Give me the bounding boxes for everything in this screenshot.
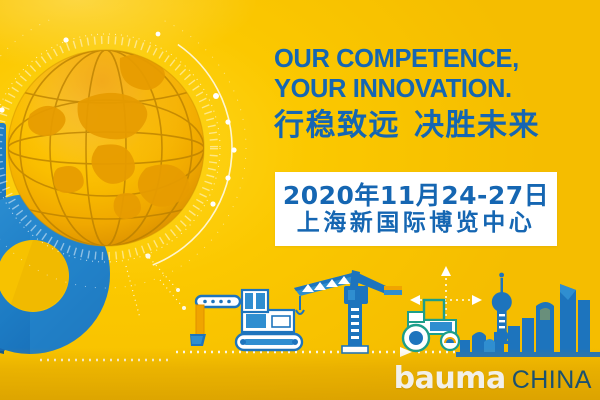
logo-region: CHINA: [512, 367, 592, 393]
tagline-cn: 行稳致远决胜未来: [274, 109, 574, 143]
bauma-china-banner: OUR COMPETENCE, YOUR INNOVATION. 行稳致远决胜未…: [0, 0, 600, 400]
event-dates: 2020年11月24-27日: [283, 182, 549, 210]
logo-wordmark: bauma: [394, 364, 506, 394]
bauma-china-logo: bauma CHINA: [394, 364, 592, 394]
machinery-illustration-strip: [0, 248, 600, 368]
event-info-box: 2020年11月24-27日 上海新国际博览中心: [275, 172, 557, 246]
tagline-en: OUR COMPETENCE, YOUR INNOVATION.: [274, 44, 574, 104]
globe-graphic: [8, 50, 204, 246]
tagline-line-1: OUR COMPETENCE,: [274, 45, 519, 73]
event-venue: 上海新国际博览中心: [297, 210, 536, 237]
road-roller-icon: [403, 300, 459, 351]
shanghai-skyline-icon: [456, 273, 600, 357]
headline-block: OUR COMPETENCE, YOUR INNOVATION. 行稳致远决胜未…: [274, 44, 574, 143]
tagline-cn-left: 行稳致远: [274, 108, 400, 143]
excavator-icon: [190, 290, 302, 350]
tagline-cn-right: 决胜未来: [414, 108, 540, 143]
tower-crane-icon: [294, 270, 402, 353]
tagline-line-2: YOUR INNOVATION.: [274, 74, 574, 104]
